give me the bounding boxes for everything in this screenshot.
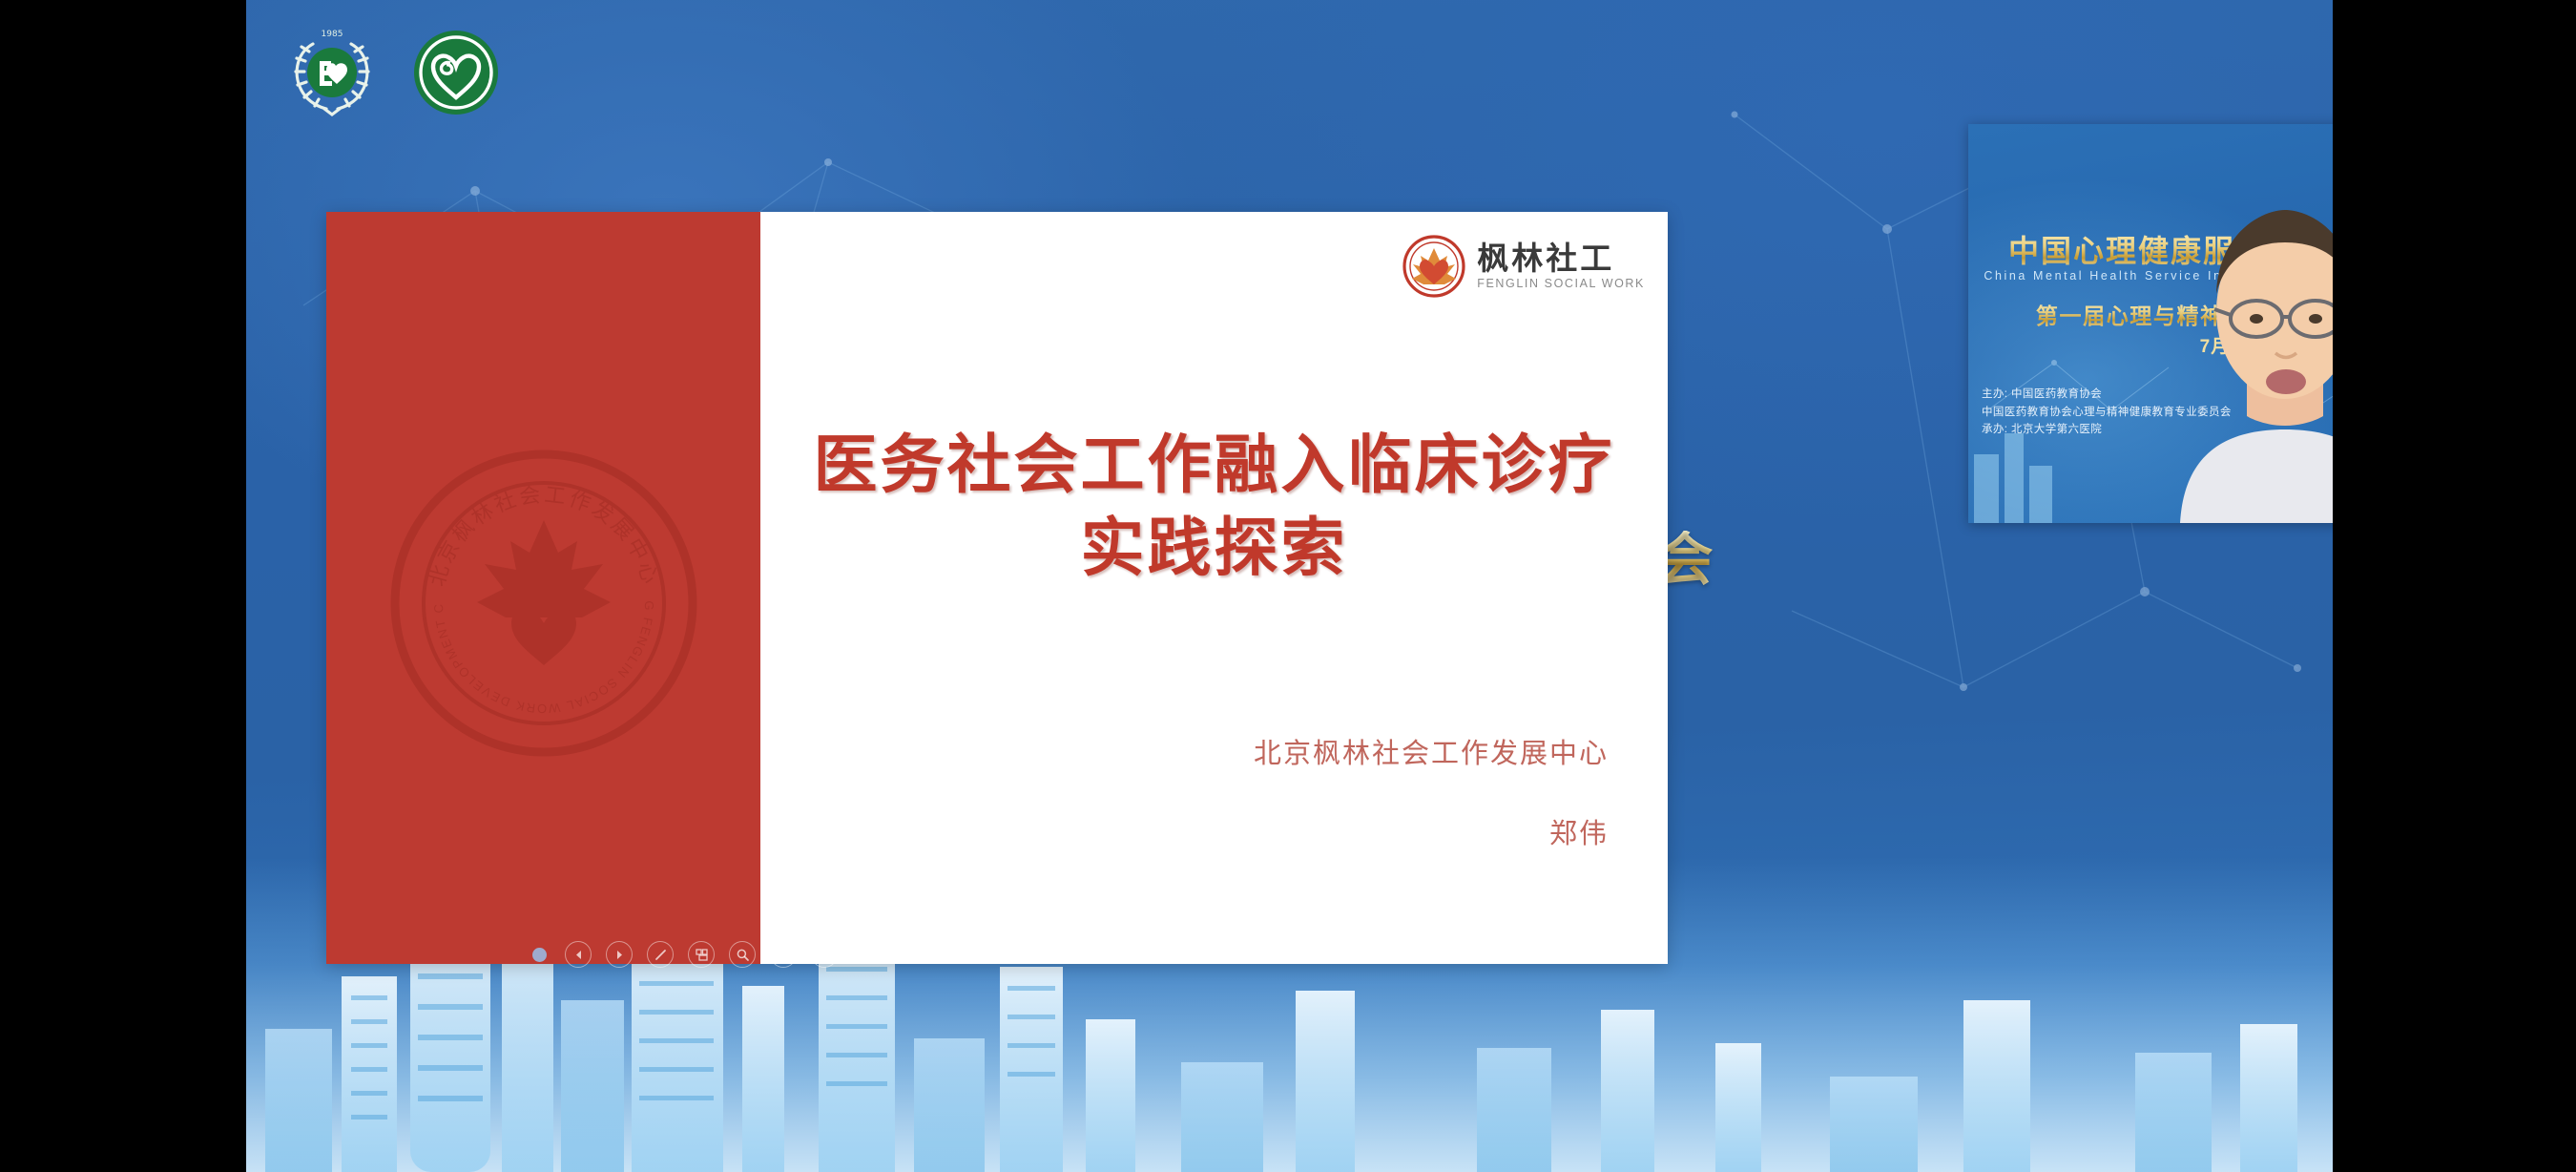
- grid-icon: [695, 948, 709, 962]
- more-options-button[interactable]: [811, 941, 838, 968]
- slide-title: 医务社会工作融入临床诊疗 实践探索: [760, 424, 1668, 590]
- slide-toolbar[interactable]: [532, 941, 838, 968]
- letterbox-left: [0, 0, 246, 1172]
- pen-icon: [654, 948, 668, 962]
- slide-title-line2: 实践探索: [789, 507, 1639, 590]
- magnifier-icon: [736, 948, 750, 962]
- slide-red-panel: 北京枫林社会工作发展中心 BEIJING FENGLIN SOCIAL WORK…: [326, 212, 760, 964]
- pen-annotate-button[interactable]: [647, 941, 674, 968]
- caption-icon: [777, 948, 791, 962]
- letterbox-right: [2333, 0, 2576, 1172]
- fenglin-logo: 枫林社工 FENGLIN SOCIAL WORK: [1402, 235, 1645, 298]
- ellipsis-icon: [818, 948, 832, 962]
- slide-title-line1: 医务社会工作融入临床诊疗: [789, 424, 1639, 507]
- credit-organization: 北京枫林社会工作发展中心: [1254, 731, 1609, 771]
- toolbar-handle-dot[interactable]: [532, 948, 547, 962]
- triangle-right-icon: [613, 949, 626, 961]
- presenter-video-overlay[interactable]: 中国心理健康服务融合发展大会 China Mental Health Servi…: [1968, 124, 2333, 523]
- fenglin-logo-cn: 枫林社工: [1477, 242, 1645, 274]
- slide-content-panel: 枫林社工 FENGLIN SOCIAL WORK 医务社会工作融入临床诊疗 实践…: [760, 212, 1668, 964]
- presenter-figure: [2171, 179, 2333, 523]
- previous-slide-button[interactable]: [565, 941, 592, 968]
- slide-grid-button[interactable]: [688, 941, 715, 968]
- fenglin-logo-en: FENGLIN SOCIAL WORK: [1477, 278, 1645, 290]
- presentation-scene: 1985 中国心理健康服务融合发展大会 第一届心理与精神健康教育委员会年会: [246, 0, 2333, 1172]
- credit-presenter: 郑伟: [1254, 811, 1609, 851]
- psychological-association-emblem-icon: 1985: [280, 21, 384, 124]
- organization-logos: 1985: [280, 21, 500, 124]
- presentation-slide[interactable]: 北京枫林社会工作发展中心 BEIJING FENGLIN SOCIAL WORK…: [326, 212, 1668, 964]
- video-stage: 1985 中国心理健康服务融合发展大会 第一届心理与精神健康教育委员会年会: [0, 0, 2576, 1172]
- fenglin-seal-watermark-icon: 北京枫林社会工作发展中心 BEIJING FENGLIN SOCIAL WORK…: [386, 446, 701, 761]
- slide-credit: 北京枫林社会工作发展中心 郑伟: [1254, 731, 1609, 851]
- next-slide-button[interactable]: [606, 941, 633, 968]
- caption-button[interactable]: [770, 941, 797, 968]
- emblem-year: 1985: [322, 30, 343, 39]
- fenglin-maple-seal-icon: [1402, 235, 1465, 298]
- triangle-left-icon: [572, 949, 585, 961]
- zoom-button[interactable]: [729, 941, 756, 968]
- mental-health-heart-emblem-icon: [412, 29, 500, 116]
